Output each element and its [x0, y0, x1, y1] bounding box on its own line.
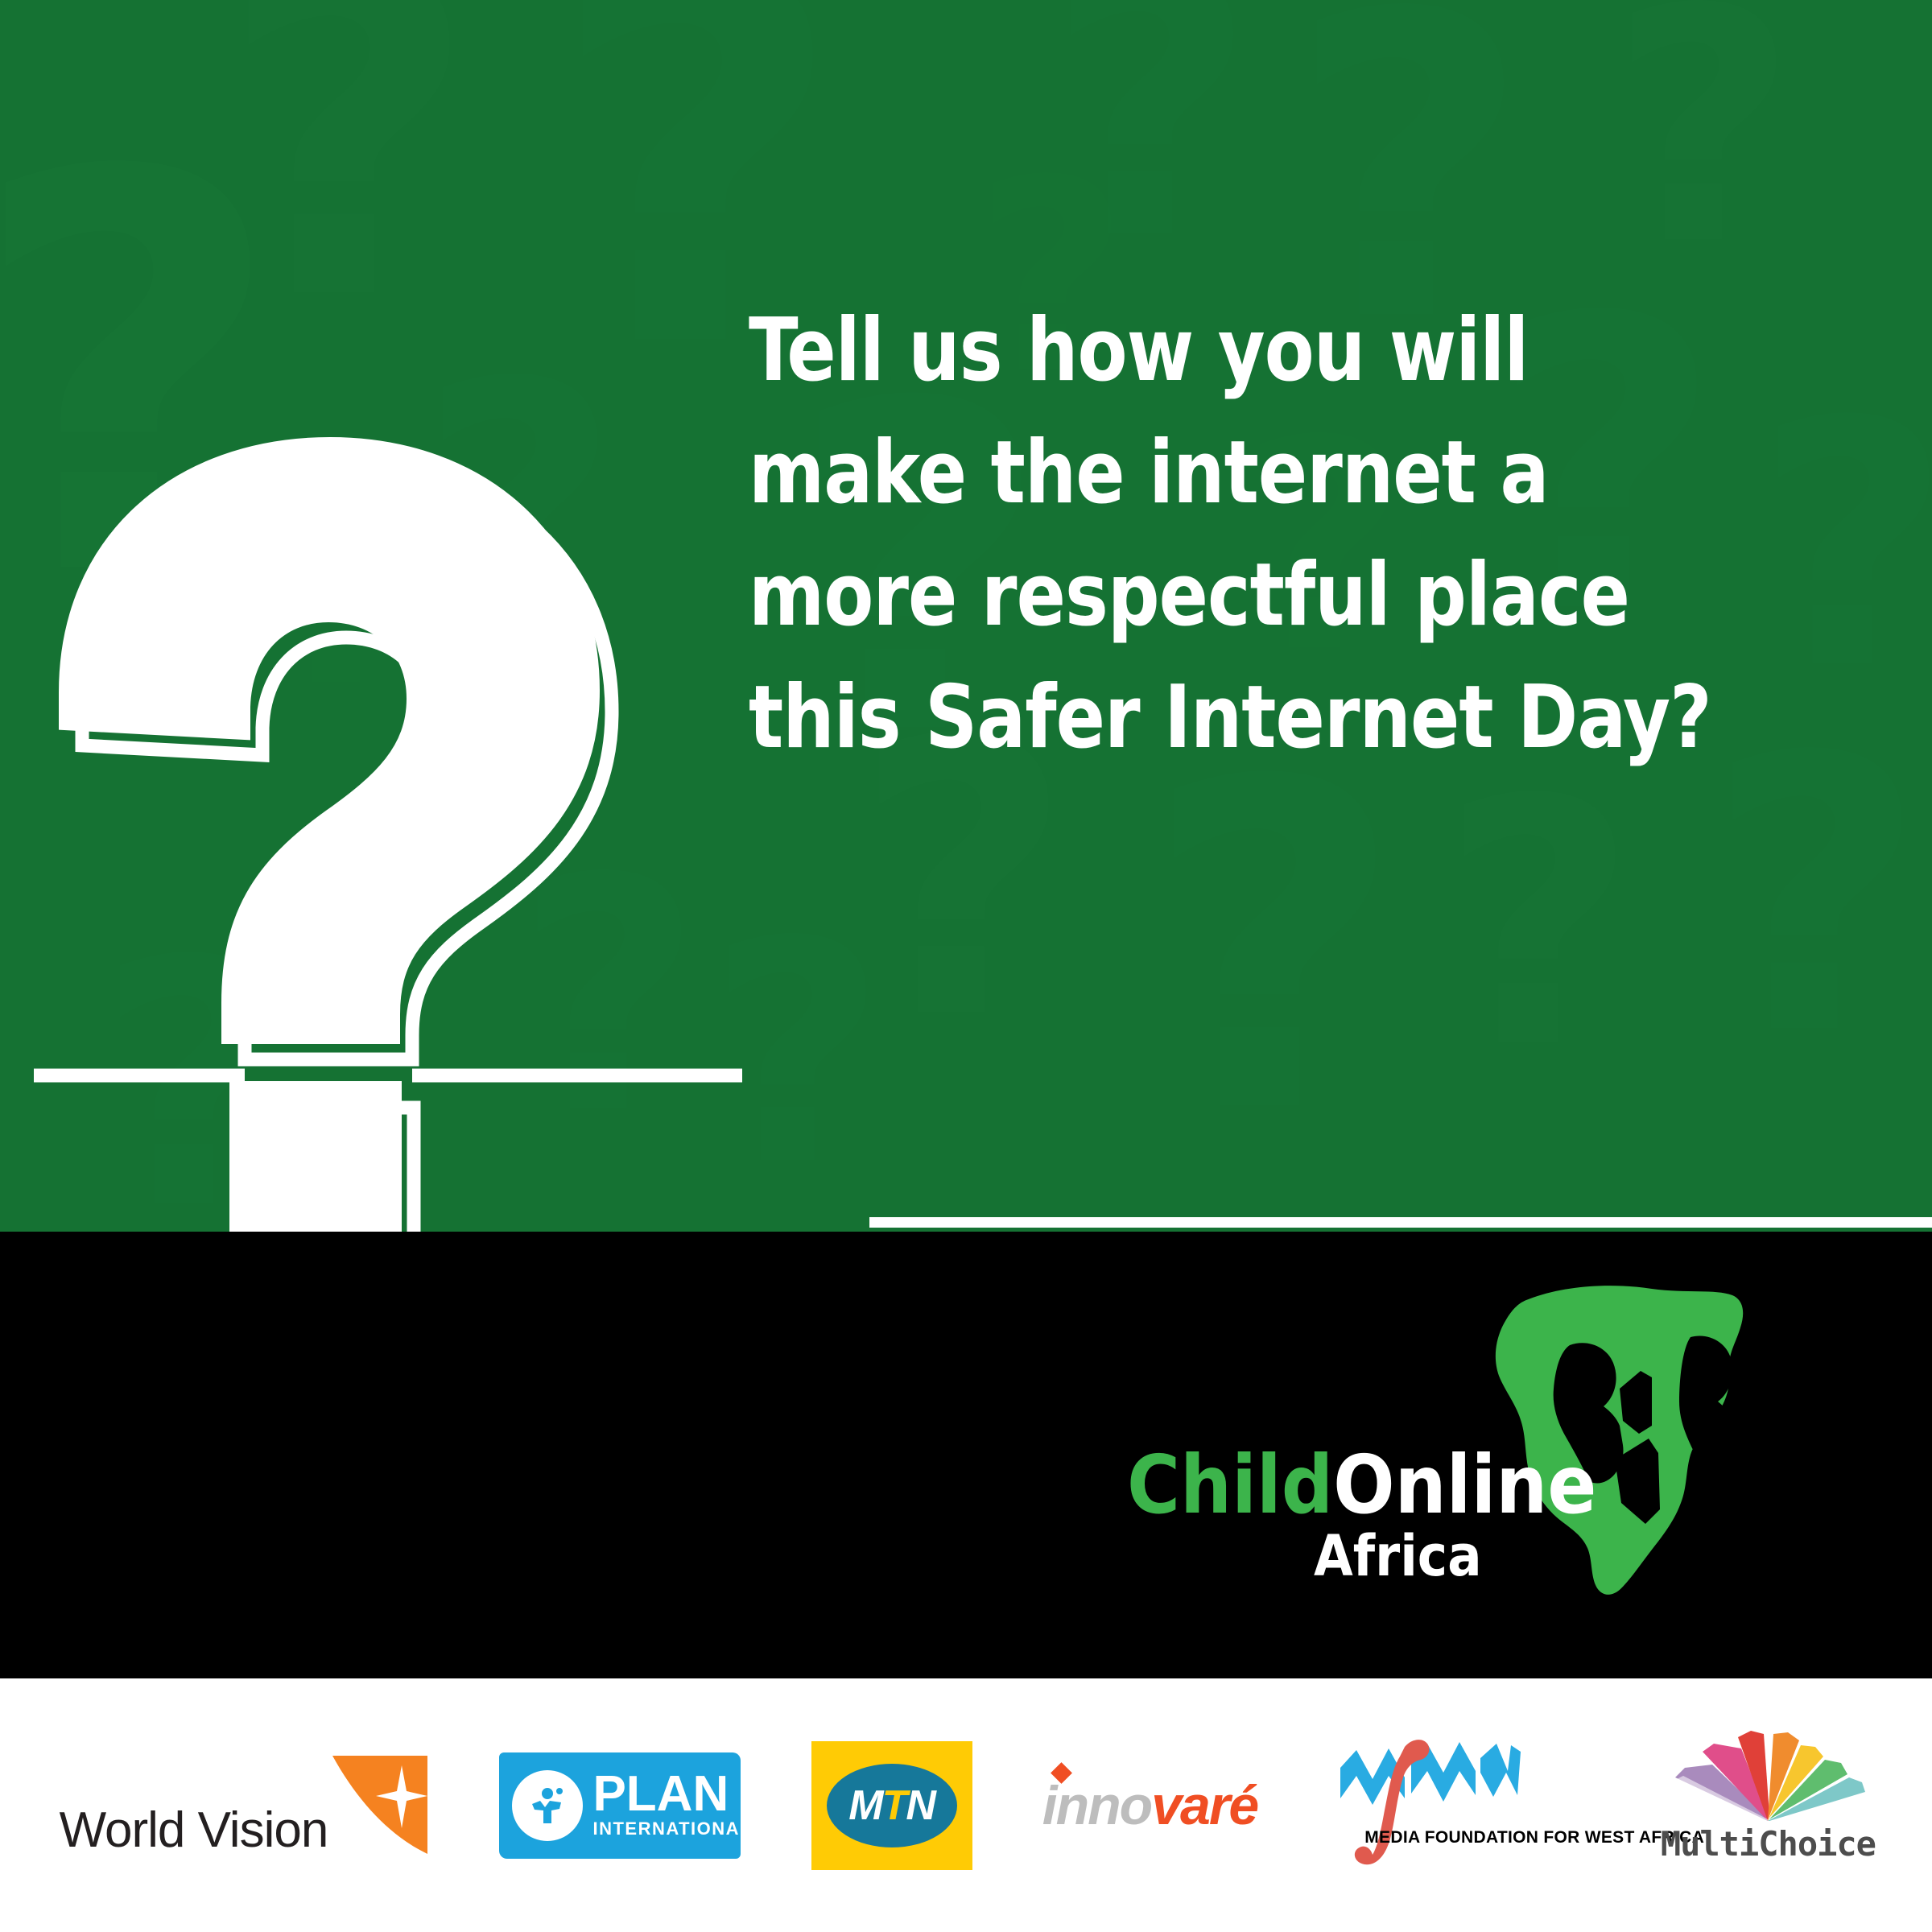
coa-wordmark: ChildOnline: [1127, 1445, 1596, 1525]
mfwa-wave-icon: [1327, 1737, 1593, 1874]
sponsor-world-vision[interactable]: World Vision: [60, 1713, 430, 1898]
hero-section: ? ? ? ? ? ? ? ? ? ? ? ? ? ? ? ? ? ? ? ?: [0, 0, 1932, 1232]
bg-question-glyph: ?: [708, 902, 885, 1207]
poster-root: ? ? ? ? ? ? ? ? ? ? ? ? ? ? ? ? ? ? ? ?: [0, 0, 1932, 1932]
sponsor-mtn[interactable]: MTN: [811, 1713, 972, 1898]
sponsor-multichoice[interactable]: MultiChoice: [1663, 1713, 1872, 1898]
headline-line-3: more respectful place: [749, 535, 1737, 657]
plan-child-circle-icon: [512, 1770, 583, 1841]
question-mark-icon: [16, 419, 724, 1232]
white-divider-line: [869, 1217, 1932, 1228]
branding-band: #SIDAfrica ChildOnline Afric: [0, 1232, 1932, 1678]
sponsor-plan-international[interactable]: PLAN INTERNATIONAL: [499, 1713, 741, 1898]
coa-word-child: Child: [1127, 1438, 1333, 1532]
coa-word-online: Online: [1333, 1438, 1596, 1532]
headline-line-4: this Safer Internet Day?: [749, 657, 1737, 779]
plan-label: PLAN: [592, 1771, 741, 1818]
mtn-label: MTN: [848, 1785, 935, 1827]
sponsor-mfwa[interactable]: MEDIA FOUNDATION FOR WEST AFRICA: [1327, 1713, 1593, 1898]
mtn-oval-icon: MTN: [827, 1764, 957, 1847]
innovare-label-gray: inno: [1042, 1775, 1152, 1836]
world-vision-label: World Vision: [60, 1806, 328, 1856]
multichoice-label: MultiChoice: [1661, 1827, 1876, 1861]
innovare-label-orange: varé: [1151, 1775, 1257, 1836]
mtn-tile: MTN: [811, 1741, 972, 1870]
bg-question-glyph: ?: [217, 0, 479, 362]
innovare-wordmark: innovaré: [1042, 1778, 1257, 1833]
mfwa-sub-label: MEDIA FOUNDATION FOR WEST AFRICA: [1364, 1828, 1704, 1847]
headline: Tell us how you will make the internet a…: [749, 290, 1811, 779]
bg-question-glyph: ?: [1441, 757, 1637, 1095]
plan-sub-label: INTERNATIONAL: [592, 1818, 741, 1839]
sponsor-bar: World Vision: [0, 1678, 1932, 1932]
child-online-africa-logo: ChildOnline Africa: [1127, 1272, 1787, 1626]
world-vision-star-icon: [323, 1752, 429, 1859]
sponsor-innovare[interactable]: innovaré: [1042, 1713, 1257, 1898]
bg-question-glyph: ?: [1143, 724, 1405, 1175]
coa-subtitle-africa: Africa: [1314, 1528, 1482, 1584]
africa-map-icon: [1449, 1268, 1787, 1606]
headline-line-2: make the internet a: [749, 412, 1737, 535]
multichoice-rainbow-fan-icon: [1667, 1729, 1868, 1824]
headline-line-1: Tell us how you will: [749, 290, 1737, 412]
